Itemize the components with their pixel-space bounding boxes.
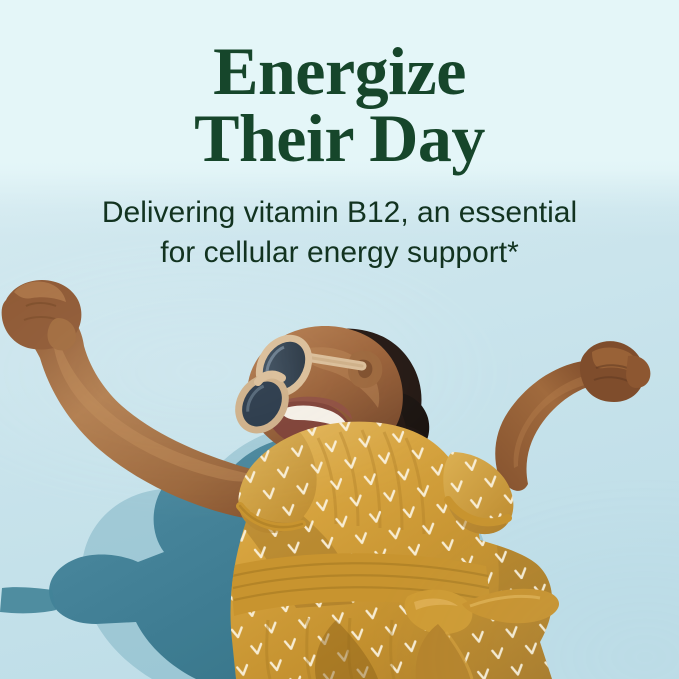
- hero-photo: [0, 0, 679, 679]
- product-marketing-banner: Energize Their Day Delivering vitamin B1…: [0, 0, 679, 679]
